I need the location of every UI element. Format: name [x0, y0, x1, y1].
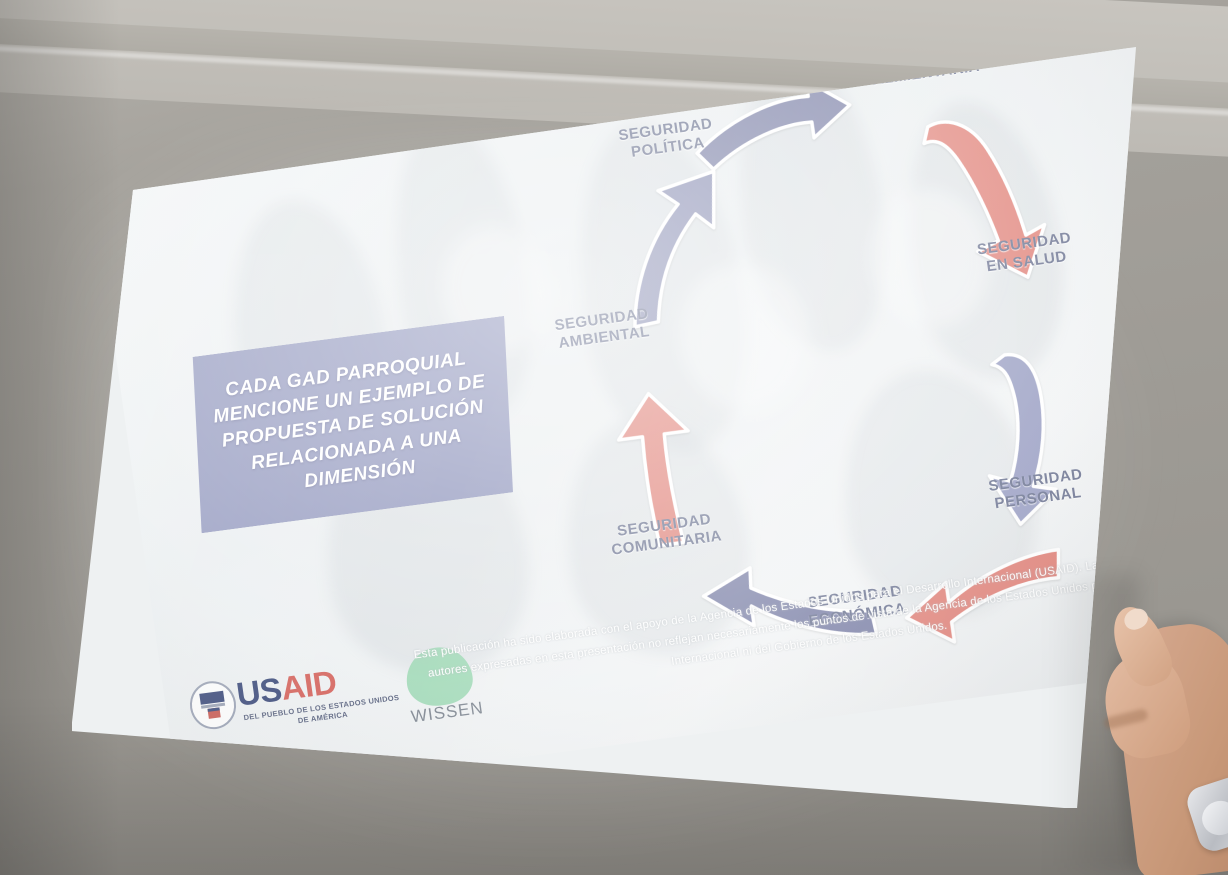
presenter-hand	[1074, 545, 1228, 875]
usaid-us-text: US	[234, 670, 284, 712]
instruction-callout-text: CADA GAD PARROQUIAL MENCIONE UN EJEMPLO …	[180, 341, 525, 508]
photo-scene: DIMENSIONES DE LA SEGURIDAD HUMANA CADA …	[0, 0, 1228, 875]
usaid-seal-icon	[187, 678, 239, 732]
usaid-aid-text: AID	[279, 663, 339, 707]
